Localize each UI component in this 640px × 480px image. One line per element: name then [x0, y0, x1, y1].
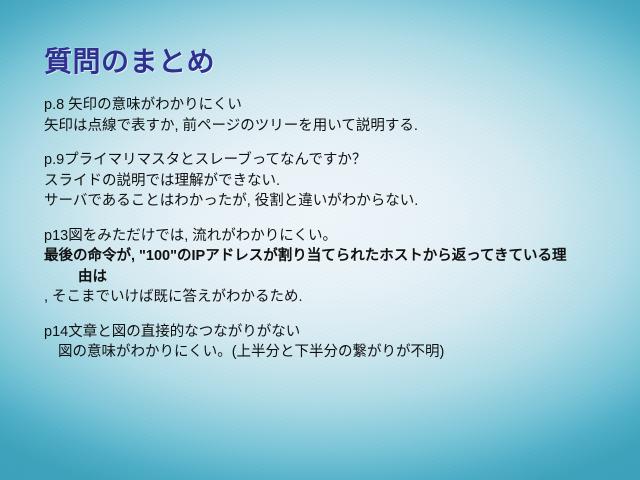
question-block: p.9プライマリマスタとスレーブってなんですか？スライドの説明では理解ができない…: [44, 150, 624, 212]
question-block: p.8 矢印の意味がわかりにくい矢印は点線で表すか, 前ページのツリーを用いて説…: [44, 95, 624, 136]
question-line: サーバであることはわかったが, 役割と違いがわからない.: [44, 191, 619, 212]
slide-title: 質問のまとめ: [44, 40, 215, 80]
question-line: p.8 矢印の意味がわかりにくい: [44, 95, 619, 116]
question-line: p13図をみただけでは, 流れがわかりにくい。: [44, 226, 619, 247]
slide-content: 質問のまとめ p.8 矢印の意味がわかりにくい矢印は点線で表すか, 前ページのツ…: [0, 0, 640, 480]
question-line: , そこまでいけば既に答えがわかるため.: [44, 287, 619, 308]
question-block: p13図をみただけでは, 流れがわかりにくい。最後の命令が, "100"のIPア…: [44, 226, 624, 308]
question-line: 矢印は点線で表すか, 前ページのツリーを用いて説明する.: [44, 116, 619, 137]
question-line: 最後の命令が, "100"のIPアドレスが割り当てられたホストから返ってきている…: [44, 246, 619, 267]
question-line: スライドの説明では理解ができない.: [44, 171, 619, 192]
slide-body: p.8 矢印の意味がわかりにくい矢印は点線で表すか, 前ページのツリーを用いて説…: [44, 95, 624, 363]
question-line: p14文章と図の直接的なつながりがない: [44, 322, 619, 343]
question-block: p14文章と図の直接的なつながりがない図の意味がわかりにくい。(上半分と下半分の…: [44, 322, 624, 363]
question-line: p.9プライマリマスタとスレーブってなんですか？: [44, 150, 619, 171]
presentation-slide: 質問のまとめ p.8 矢印の意味がわかりにくい矢印は点線で表すか, 前ページのツ…: [0, 0, 640, 480]
question-line: 由は: [44, 267, 640, 288]
question-line: 図の意味がわかりにくい。(上半分と下半分の繋がりが不明): [44, 342, 633, 363]
